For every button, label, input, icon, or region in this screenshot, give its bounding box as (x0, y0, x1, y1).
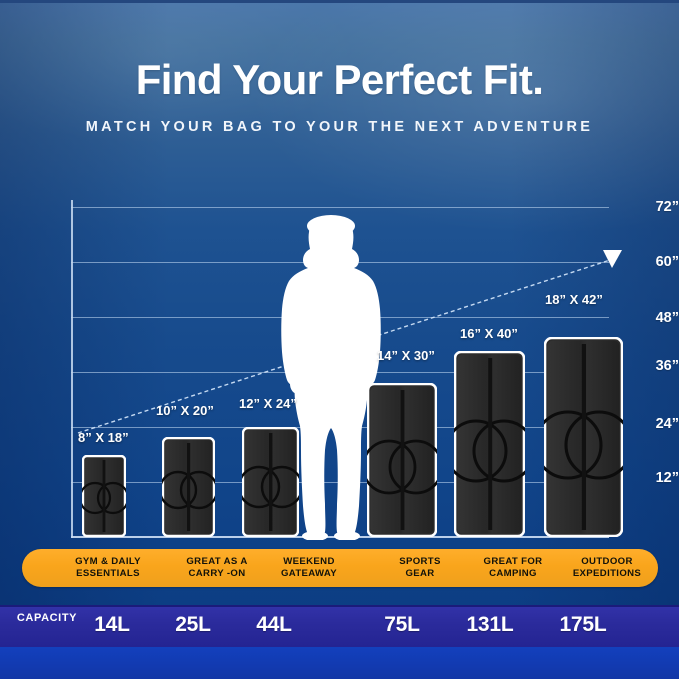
category-line2-4: GEAR (405, 568, 434, 579)
capacity-value-6: 175L (533, 605, 633, 645)
category-label-5: GREAT FOR CAMPING (484, 556, 543, 581)
bag-dimension-label-1: 8” X 18” (78, 430, 129, 445)
category-label-4: SPORTS GEAR (399, 556, 441, 581)
infographic-root: Find Your Perfect Fit. MATCH YOUR BAG TO… (0, 0, 679, 679)
category-line2-3: GATEAWAY (281, 568, 337, 579)
bag-dimension-label-6: 18” X 42” (545, 292, 603, 307)
bag-shape-5[interactable] (454, 351, 525, 537)
category-line2-2: CARRY -ON (189, 568, 246, 579)
category-label-6: OUTDOOR EXPEDITIONS (573, 556, 641, 581)
bag-shape-1[interactable] (82, 455, 126, 537)
category-band: GYM & DAILY ESSENTIALS GREAT AS A CARRY … (22, 549, 658, 587)
footer-strip (0, 647, 679, 679)
category-label-3: WEEKEND GATEAWAY (281, 556, 337, 581)
category-line1-4: SPORTS (399, 556, 441, 567)
category-cell-3[interactable]: WEEKEND GATEAWAY (250, 549, 368, 587)
category-cell-6[interactable]: OUTDOOR EXPEDITIONS (552, 549, 662, 587)
bag-dimension-label-4: 14” X 30” (377, 348, 435, 363)
category-cell-5[interactable]: GREAT FOR CAMPING (459, 549, 567, 587)
category-line2-6: EXPEDITIONS (573, 568, 641, 579)
bag-dimension-label-2: 10” X 20” (156, 403, 214, 418)
bag-dimension-label-3: 12” X 24” (239, 396, 297, 411)
category-line1-5: GREAT FOR (484, 556, 543, 567)
category-line2-5: CAMPING (489, 568, 537, 579)
bag-dimension-label-5: 16” X 40” (460, 326, 518, 341)
category-line1-2: GREAT AS A (186, 556, 247, 567)
capacity-value-5: 131L (440, 605, 540, 645)
category-cell-4[interactable]: SPORTS GEAR (370, 549, 470, 587)
y-tick-label-12: 12” (625, 470, 679, 486)
bag-shape-2[interactable] (162, 437, 215, 537)
category-label-2: GREAT AS A CARRY -ON (186, 556, 247, 581)
bag-shape-3[interactable] (242, 427, 299, 537)
capacity-value-3: 44L (224, 605, 324, 645)
capacity-value-4: 75L (352, 605, 452, 645)
bag-shape-6[interactable] (544, 337, 623, 537)
category-cell-1[interactable]: GYM & DAILY ESSENTIALS (50, 549, 166, 587)
category-label-1: GYM & DAILY ESSENTIALS (75, 556, 141, 581)
category-line2-1: ESSENTIALS (76, 568, 140, 579)
category-line1-6: OUTDOOR (581, 556, 632, 567)
category-line1-1: GYM & DAILY (75, 556, 141, 567)
category-line1-3: WEEKEND (283, 556, 335, 567)
bag-shape-4[interactable] (367, 383, 437, 537)
